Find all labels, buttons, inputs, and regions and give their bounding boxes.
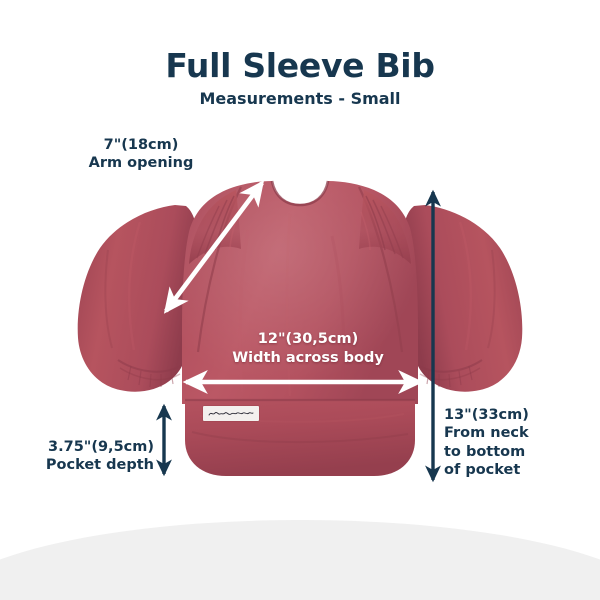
arm-opening-label: 7"(18cm) Arm opening xyxy=(66,136,216,173)
neck-to-pocket-label: 13"(33cm) From neck to bottom of pocket xyxy=(444,406,584,480)
width-across-body-caption: Width across body xyxy=(208,349,408,368)
width-across-body-value: 12"(30,5cm) xyxy=(208,330,408,349)
arm-opening-value: 7"(18cm) xyxy=(66,136,216,154)
neck-to-pocket-caption-1: From neck xyxy=(444,424,584,442)
arm-opening-caption: Arm opening xyxy=(66,154,216,172)
measurement-diagram: Full Sleeve Bib Measurements - Small xyxy=(0,0,600,600)
measurement-arrows xyxy=(0,0,600,600)
neck-to-pocket-caption-2: to bottom xyxy=(444,443,584,461)
neck-to-pocket-caption-3: of pocket xyxy=(444,461,584,479)
arm-opening-arrow xyxy=(166,183,262,311)
neck-to-pocket-value: 13"(33cm) xyxy=(444,406,584,424)
pocket-depth-value: 3.75"(9,5cm) xyxy=(22,438,154,456)
width-across-body-label: 12"(30,5cm) Width across body xyxy=(208,330,408,368)
pocket-depth-label: 3.75"(9,5cm) Pocket depth xyxy=(22,438,154,475)
pocket-depth-caption: Pocket depth xyxy=(22,456,154,474)
